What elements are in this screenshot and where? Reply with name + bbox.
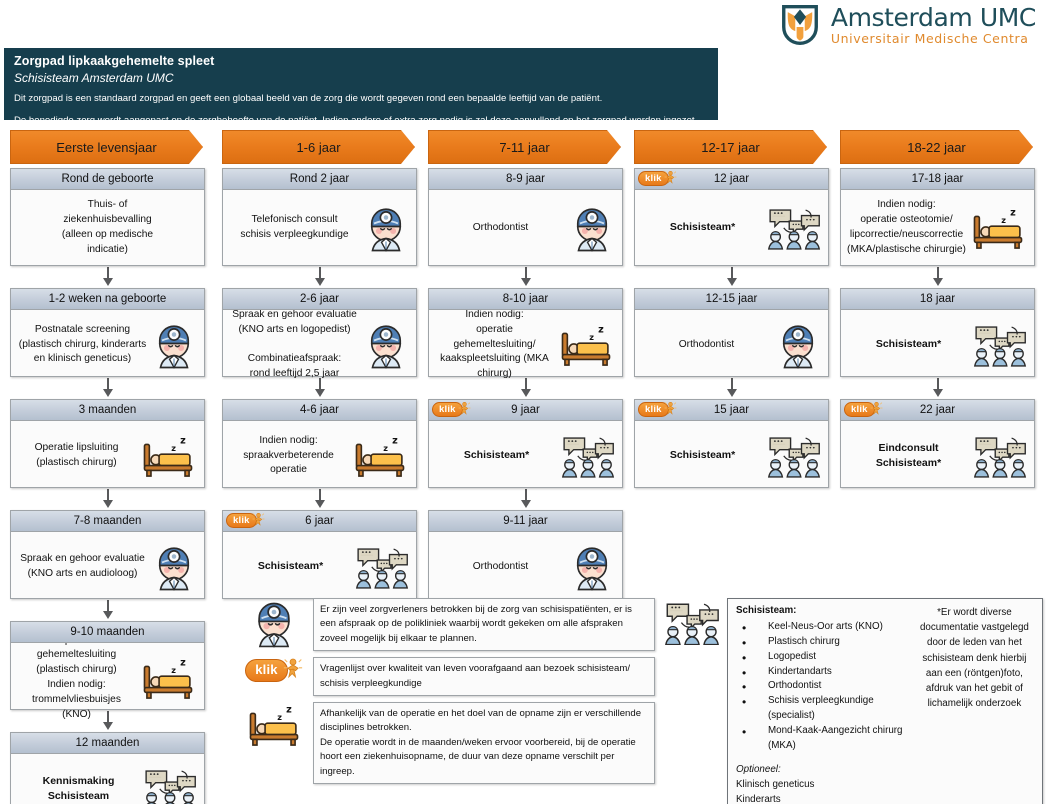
age-banner-label: 7-11 jaar bbox=[499, 140, 549, 155]
team-icon-wrap bbox=[560, 434, 616, 478]
klik-badge[interactable]: klik bbox=[432, 401, 471, 418]
schisisteam-legend: Schisisteam:Keel-Neus-Oor arts (KNO)Plas… bbox=[663, 598, 1043, 804]
milestone-card-title: 12 maanden bbox=[76, 737, 140, 749]
milestone-card-text: Postnatale screening(plastisch chirurg, … bbox=[17, 323, 148, 367]
doctor-icon-wrap bbox=[774, 321, 822, 369]
hospital-bed-icon: zz bbox=[138, 433, 198, 479]
starburst-icon bbox=[283, 657, 303, 684]
timeline-column-4: klik12 jaarSchisisteam*12-15 jaarOrthodo… bbox=[634, 168, 829, 488]
schisisteam-legend-box: Schisisteam:Keel-Neus-Oor arts (KNO)Plas… bbox=[727, 598, 1043, 804]
milestone-card-body: KennismakingSchisisteam bbox=[11, 754, 204, 804]
age-banner-4[interactable]: 12-17 jaar bbox=[634, 130, 827, 164]
milestone-card-body: Schisisteam* bbox=[635, 190, 828, 266]
doctor-icon bbox=[362, 321, 410, 369]
schisisteam-icon bbox=[972, 434, 1028, 478]
starburst-icon bbox=[870, 401, 883, 415]
starburst-icon bbox=[664, 170, 677, 184]
doctor-icon-wrap bbox=[362, 321, 410, 369]
milestone-card[interactable]: Rond de geboorteThuis- ofziekenhuisbeval… bbox=[10, 168, 205, 266]
optional-member: Klinisch geneticus bbox=[736, 778, 909, 793]
milestone-card[interactable]: klik22 jaarEindconsultSchisisteam* bbox=[840, 399, 1035, 488]
milestone-card-text: Schisisteam* bbox=[847, 337, 970, 352]
milestone-card-body: Indien nodig:spraakverbeterendeoperatiez… bbox=[223, 421, 416, 491]
flow-arrow-icon bbox=[101, 489, 115, 509]
milestone-card-title: 9 jaar bbox=[511, 404, 540, 416]
schisisteam-member: Keel-Neus-Oor arts (KNO) bbox=[738, 620, 909, 635]
timeline-column-3: 8-9 jaarOrthodontist8-10 jaarIndien nodi… bbox=[428, 168, 623, 599]
team-icon-wrap bbox=[972, 434, 1028, 478]
doctor-icon bbox=[568, 204, 616, 252]
flow-arrow bbox=[10, 488, 205, 510]
svg-text:z: z bbox=[1010, 208, 1016, 219]
milestone-card-title: 3 maanden bbox=[79, 404, 137, 416]
klik-badge[interactable]: klik bbox=[226, 512, 265, 529]
milestone-card[interactable]: 9-10 maandenOperatie gehemeltesluiting(p… bbox=[10, 621, 205, 710]
team-icon-wrap bbox=[354, 545, 410, 589]
doctor-icon bbox=[362, 204, 410, 252]
milestone-card[interactable]: 4-6 jaarIndien nodig:spraakverbeterendeo… bbox=[222, 399, 417, 488]
milestone-card-text: Indien nodig:operatie gehemeltesluiting/… bbox=[435, 308, 554, 382]
milestone-card-text: Operatie gehemeltesluiting(plastisch chi… bbox=[17, 634, 136, 723]
starburst-icon bbox=[458, 401, 471, 418]
doctor-icon-wrap bbox=[568, 543, 616, 591]
milestone-card-title: 8-10 jaar bbox=[503, 293, 548, 305]
doctor-icon-wrap bbox=[362, 204, 410, 252]
documentation-footnote: *Er wordt diverse documentatie vastgeleg… bbox=[915, 604, 1034, 804]
schisisteam-member: Kindertandarts bbox=[738, 665, 909, 680]
klik-badge-label: klik bbox=[245, 659, 287, 681]
milestone-card-header: 3 maanden bbox=[11, 400, 204, 421]
flow-arrow-icon bbox=[313, 489, 327, 509]
milestone-card-title: 12 jaar bbox=[714, 173, 749, 185]
doctor-icon bbox=[150, 321, 198, 369]
milestone-card-body: Telefonisch consultschisis verpleegkundi… bbox=[223, 190, 416, 266]
klik-badge[interactable]: klik bbox=[638, 401, 677, 418]
milestone-card-body: Operatie gehemeltesluiting(plastisch chi… bbox=[11, 643, 204, 713]
age-banner-label: 18-22 jaar bbox=[907, 140, 966, 155]
milestone-card-body: Indien nodig:operatie osteotomie/lipcorr… bbox=[841, 190, 1034, 266]
milestone-card-body: Spraak en gehoor evaluatie(KNO arts en a… bbox=[11, 532, 204, 602]
legend-note-row: Er zijn veel zorgverleners betrokken bij… bbox=[243, 598, 655, 651]
milestone-card-text: Orthodontist bbox=[435, 560, 566, 575]
milestone-card-title: 22 jaar bbox=[920, 404, 955, 416]
milestone-card[interactable]: 3 maandenOperatie lipsluiting(plastisch … bbox=[10, 399, 205, 488]
schisisteam-icon bbox=[560, 434, 616, 478]
milestone-card-text: Telefonisch consultschisis verpleegkundi… bbox=[229, 213, 360, 243]
milestone-card-body: Orthodontist bbox=[429, 190, 622, 266]
tulip-shield-icon bbox=[779, 4, 821, 46]
milestone-card-title: 4-6 jaar bbox=[300, 404, 339, 416]
milestone-card-text: Schisisteam* bbox=[229, 559, 352, 574]
doctor-icon bbox=[774, 321, 822, 369]
milestone-card-header: 7-8 maanden bbox=[11, 511, 204, 532]
milestone-card[interactable]: 12-15 jaarOrthodontist bbox=[634, 288, 829, 377]
milestone-card-header: 18 jaar bbox=[841, 289, 1034, 310]
milestone-card-header: 17-18 jaar bbox=[841, 169, 1034, 190]
hospital-bed-icon: zz bbox=[244, 702, 304, 748]
hospital-bed-icon: zz bbox=[138, 655, 198, 701]
milestone-card-text: Orthodontist bbox=[641, 338, 772, 353]
bed-legend-icon: zz bbox=[243, 702, 305, 748]
doctor-legend-icon bbox=[243, 598, 305, 648]
milestone-card-header: klik9 jaar bbox=[429, 400, 622, 421]
milestone-card-header: Rond de geboorte bbox=[11, 169, 204, 190]
milestone-card[interactable]: 17-18 jaarIndien nodig:operatie osteotom… bbox=[840, 168, 1035, 266]
milestone-card-body: Orthodontist bbox=[429, 532, 622, 602]
milestone-card-title: 1-2 weken na geboorte bbox=[49, 293, 167, 305]
schisisteam-members: Schisisteam:Keel-Neus-Oor arts (KNO)Plas… bbox=[736, 604, 909, 804]
milestone-card-header: klik6 jaar bbox=[223, 511, 416, 532]
svg-text:z: z bbox=[277, 712, 282, 722]
milestone-card-title: 7-8 maanden bbox=[74, 515, 142, 527]
milestone-card[interactable]: 7-8 maandenSpraak en gehoor evaluatie(KN… bbox=[10, 510, 205, 599]
optional-label: Optioneel: bbox=[736, 763, 909, 778]
milestone-card-title: Rond de geboorte bbox=[61, 173, 153, 185]
legend-note-text: Afhankelijk van de operatie en het doel … bbox=[313, 702, 655, 784]
team-icon-wrap bbox=[766, 206, 822, 250]
flow-arrow-icon bbox=[101, 378, 115, 398]
age-banner-1[interactable]: Eerste levensjaar bbox=[10, 130, 203, 164]
milestone-card-title: 15 jaar bbox=[714, 404, 749, 416]
doctor-icon-wrap bbox=[150, 321, 198, 369]
svg-text:z: z bbox=[171, 443, 176, 453]
milestone-card-body: Schisisteam* bbox=[841, 310, 1034, 380]
milestone-card-header: klik12 jaar bbox=[635, 169, 828, 190]
milestone-card-header: klik15 jaar bbox=[635, 400, 828, 421]
svg-text:z: z bbox=[286, 705, 292, 716]
schisisteam-icon bbox=[354, 545, 410, 589]
flow-arrow bbox=[10, 266, 205, 288]
milestone-card-text: KennismakingSchisisteam bbox=[17, 774, 140, 804]
zorgpad-poster: Amsterdam UMC Universitair Medische Cent… bbox=[0, 0, 1050, 804]
starburst-icon bbox=[664, 401, 677, 415]
milestone-card-text: Indien nodig:spraakverbeterendeoperatie bbox=[229, 434, 348, 478]
milestone-card-text: Schisisteam* bbox=[641, 448, 764, 463]
flow-arrow bbox=[634, 266, 829, 288]
logo-subtitle: Universitair Medische Centra bbox=[831, 33, 1036, 46]
milestone-card[interactable]: 9-11 jaarOrthodontist bbox=[428, 510, 623, 599]
age-banner-2[interactable]: 1-6 jaar bbox=[222, 130, 415, 164]
milestone-card-text: Spraak en gehoor evaluatie(KNO arts en a… bbox=[17, 552, 148, 582]
svg-text:z: z bbox=[392, 436, 398, 447]
age-banner-3[interactable]: 7-11 jaar bbox=[428, 130, 621, 164]
legend-notes: Er zijn veel zorgverleners betrokken bij… bbox=[243, 598, 655, 790]
milestone-card-title: 12-15 jaar bbox=[706, 293, 758, 305]
milestone-card-title: 6 jaar bbox=[305, 515, 334, 527]
flow-arrow bbox=[840, 266, 1035, 288]
milestone-card-text: EindconsultSchisisteam* bbox=[847, 441, 970, 471]
flow-arrow bbox=[222, 266, 417, 288]
milestone-card-header: 4-6 jaar bbox=[223, 400, 416, 421]
flow-arrow bbox=[634, 377, 829, 399]
milestone-card-header: 1-2 weken na geboorte bbox=[11, 289, 204, 310]
hospital-bed-icon: zz bbox=[556, 322, 616, 368]
milestone-card-header: 8-10 jaar bbox=[429, 289, 622, 310]
age-banner-label: Eerste levensjaar bbox=[56, 140, 156, 155]
milestone-card-title: 18 jaar bbox=[920, 293, 955, 305]
milestone-card-title: 9-11 jaar bbox=[503, 515, 548, 527]
milestone-card[interactable]: 18 jaarSchisisteam* bbox=[840, 288, 1035, 377]
svg-text:z: z bbox=[171, 665, 176, 675]
flow-arrow-icon bbox=[931, 267, 945, 287]
svg-text:z: z bbox=[180, 436, 186, 447]
flow-arrow bbox=[428, 488, 623, 510]
milestone-card-header: Rond 2 jaar bbox=[223, 169, 416, 190]
milestone-card-title: 8-9 jaar bbox=[506, 173, 545, 185]
milestone-card-body: Thuis- ofziekenhuisbevalling(alleen op m… bbox=[11, 190, 204, 266]
starburst-icon bbox=[283, 657, 303, 679]
flow-arrow-icon bbox=[519, 489, 533, 509]
milestone-card-body: Schisisteam* bbox=[429, 421, 622, 491]
intro-line-2: De benodigde zorg wordt aangepast op de … bbox=[14, 114, 708, 129]
milestone-card-body: Spraak en gehoor evaluatie(KNO arts en l… bbox=[223, 310, 416, 380]
amsterdam-umc-logo: Amsterdam UMC Universitair Medische Cent… bbox=[779, 4, 1036, 46]
starburst-icon bbox=[252, 512, 265, 526]
flow-arrow bbox=[428, 266, 623, 288]
milestone-card-header: 12 maanden bbox=[11, 733, 204, 754]
bed-icon-wrap: zz bbox=[556, 322, 616, 368]
schisisteam-member: Schisis verpleegkundige (specialist) bbox=[738, 694, 909, 724]
schisisteam-member: Logopedist bbox=[738, 650, 909, 665]
legend-note-text: Vragenlijst over kwaliteit van leven voo… bbox=[313, 657, 655, 696]
doctor-icon bbox=[150, 543, 198, 591]
logo-title: Amsterdam UMC bbox=[831, 5, 1036, 30]
legend-note-text: Er zijn veel zorgverleners betrokken bij… bbox=[313, 598, 655, 651]
milestone-card-title: 9-10 maanden bbox=[70, 626, 144, 638]
flow-arrow-icon bbox=[931, 378, 945, 398]
team-icon-wrap bbox=[142, 767, 198, 804]
legend-note-row: zzAfhankelijk van de operatie en het doe… bbox=[243, 702, 655, 784]
milestone-card-text: Schisisteam* bbox=[641, 220, 764, 235]
milestone-card-body: Postnatale screening(plastisch chirurg, … bbox=[11, 310, 204, 380]
legend-note-row: klikVragenlijst over kwaliteit van leven… bbox=[243, 657, 655, 696]
milestone-card-title: 2-6 jaar bbox=[300, 293, 339, 305]
doctor-icon-wrap bbox=[150, 543, 198, 591]
timeline-column-5: 17-18 jaarIndien nodig:operatie osteotom… bbox=[840, 168, 1035, 488]
milestone-card[interactable]: klik6 jaarSchisisteam* bbox=[222, 510, 417, 599]
age-banner-label: 1-6 jaar bbox=[296, 140, 340, 155]
flow-arrow-icon bbox=[101, 267, 115, 287]
schisisteam-member: Mond-Kaak-Aangezicht chirurg (MKA) bbox=[738, 724, 909, 754]
milestone-card-title: 17-18 jaar bbox=[912, 173, 964, 185]
klik-badge[interactable]: klik bbox=[638, 170, 677, 187]
bed-icon-wrap: zz bbox=[138, 655, 198, 701]
milestone-card[interactable]: 8-9 jaarOrthodontist bbox=[428, 168, 623, 266]
milestone-card[interactable]: 1-2 weken na geboortePostnatale screenin… bbox=[10, 288, 205, 377]
flow-arrow bbox=[222, 488, 417, 510]
starburst-icon bbox=[458, 401, 471, 415]
schisisteam-member: Plastisch chirurg bbox=[738, 635, 909, 650]
milestone-card-body: Orthodontist bbox=[635, 310, 828, 380]
milestone-card-body: Schisisteam* bbox=[223, 532, 416, 602]
milestone-card-text: Indien nodig:operatie osteotomie/lipcorr… bbox=[847, 198, 966, 257]
schisisteam-icon bbox=[663, 600, 721, 645]
team-icon-wrap bbox=[766, 434, 822, 478]
milestone-card-body: Schisisteam* bbox=[635, 421, 828, 491]
klik-legend-icon: klik bbox=[243, 657, 305, 684]
bed-icon-wrap: zz bbox=[138, 433, 198, 479]
flow-arrow bbox=[10, 599, 205, 621]
milestone-card[interactable]: klik15 jaarSchisisteam* bbox=[634, 399, 829, 488]
milestone-card[interactable]: klik12 jaarSchisisteam* bbox=[634, 168, 829, 266]
milestone-card[interactable]: 12 maandenKennismakingSchisisteam bbox=[10, 732, 205, 804]
schisisteam-icon bbox=[142, 767, 198, 804]
flow-arrow bbox=[10, 377, 205, 399]
flow-arrow bbox=[840, 377, 1035, 399]
schisisteam-icon bbox=[766, 434, 822, 478]
schisisteam-member: Orthodontist bbox=[738, 679, 909, 694]
milestone-card[interactable]: klik9 jaarSchisisteam* bbox=[428, 399, 623, 488]
milestone-card[interactable]: 2-6 jaarSpraak en gehoor evaluatie(KNO a… bbox=[222, 288, 417, 377]
milestone-card-text: Thuis- ofziekenhuisbevalling(alleen op m… bbox=[17, 198, 198, 257]
milestone-card-text: Spraak en gehoor evaluatie(KNO arts en l… bbox=[229, 308, 360, 382]
milestone-card-header: 12-15 jaar bbox=[635, 289, 828, 310]
flow-arrow-icon bbox=[313, 267, 327, 287]
hospital-bed-icon: zz bbox=[350, 433, 410, 479]
doctor-icon-wrap bbox=[568, 204, 616, 252]
timeline-column-2: Rond 2 jaarTelefonisch consultschisis ve… bbox=[222, 168, 417, 599]
starburst-icon bbox=[252, 512, 265, 529]
milestone-card-header: 8-9 jaar bbox=[429, 169, 622, 190]
svg-text:z: z bbox=[598, 325, 604, 336]
flow-arrow-icon bbox=[101, 600, 115, 620]
svg-text:z: z bbox=[589, 332, 594, 342]
doctor-icon bbox=[249, 598, 299, 648]
svg-text:z: z bbox=[383, 443, 388, 453]
schisisteam-heading: Schisisteam: bbox=[736, 604, 909, 619]
milestone-card-header: klik22 jaar bbox=[841, 400, 1034, 421]
milestone-card-body: EindconsultSchisisteam* bbox=[841, 421, 1034, 491]
milestone-card-body: Operatie lipsluiting(plastisch chirurg)z… bbox=[11, 421, 204, 491]
schisisteam-icon bbox=[972, 323, 1028, 367]
hospital-bed-icon: zz bbox=[968, 205, 1028, 251]
milestone-card[interactable]: 8-10 jaarIndien nodig:operatie gehemelte… bbox=[428, 288, 623, 377]
age-banner-label: 12-17 jaar bbox=[701, 140, 760, 155]
milestone-card-header: 9-10 maanden bbox=[11, 622, 204, 643]
schisisteam-icon bbox=[766, 206, 822, 250]
schisisteam-legend-icon bbox=[663, 598, 721, 804]
team-icon-wrap bbox=[972, 323, 1028, 367]
title-banner: Zorgpad lipkaakgehemelte spleet Schisist… bbox=[4, 48, 718, 120]
bed-icon-wrap: zz bbox=[350, 433, 410, 479]
milestone-card-title: Rond 2 jaar bbox=[290, 173, 349, 185]
age-banner-row: Eerste levensjaar1-6 jaar7-11 jaar12-17 … bbox=[0, 130, 1050, 166]
svg-text:z: z bbox=[1001, 215, 1006, 225]
timeline-column-1: Rond de geboorteThuis- ofziekenhuisbeval… bbox=[10, 168, 205, 804]
doctor-icon bbox=[568, 543, 616, 591]
svg-text:z: z bbox=[180, 658, 186, 669]
intro-line-1: Dit zorgpad is een standaard zorgpad en … bbox=[14, 92, 708, 107]
milestone-card-text: Schisisteam* bbox=[435, 448, 558, 463]
milestone-card-header: 9-11 jaar bbox=[429, 511, 622, 532]
age-banner-5[interactable]: 18-22 jaar bbox=[840, 130, 1033, 164]
starburst-icon bbox=[664, 170, 677, 187]
milestone-card-text: Operatie lipsluiting(plastisch chirurg) bbox=[17, 441, 136, 471]
flow-arrow-icon bbox=[519, 267, 533, 287]
klik-badge[interactable]: klik bbox=[844, 401, 883, 418]
page-title: Zorgpad lipkaakgehemelte spleet bbox=[14, 54, 708, 68]
milestone-card-header: 2-6 jaar bbox=[223, 289, 416, 310]
flow-arrow-icon bbox=[725, 378, 739, 398]
starburst-icon bbox=[870, 401, 883, 418]
milestone-card-text: Orthodontist bbox=[435, 221, 566, 236]
optional-member: Kinderarts bbox=[736, 793, 909, 804]
page-subtitle: Schisisteam Amsterdam UMC bbox=[14, 71, 708, 85]
milestone-card[interactable]: Rond 2 jaarTelefonisch consultschisis ve… bbox=[222, 168, 417, 266]
bed-icon-wrap: zz bbox=[968, 205, 1028, 251]
milestone-card-body: Indien nodig:operatie gehemeltesluiting/… bbox=[429, 310, 622, 380]
starburst-icon bbox=[664, 401, 677, 418]
flow-arrow-icon bbox=[725, 267, 739, 287]
